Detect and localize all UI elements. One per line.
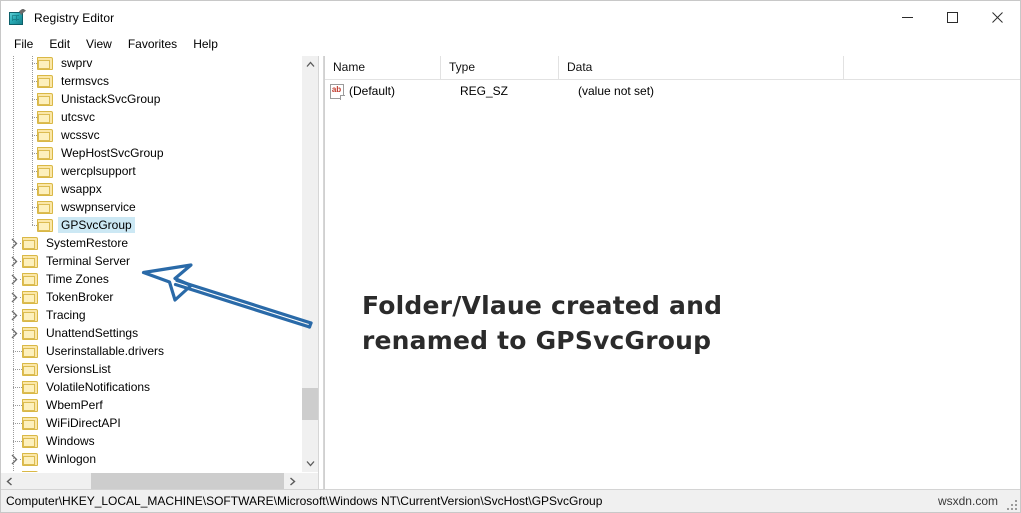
folder-icon xyxy=(22,255,38,268)
string-value-icon: ab xyxy=(330,84,344,99)
annotation-text: Folder/Vlaue created and renamed to GPSv… xyxy=(362,288,792,358)
window-title: Registry Editor xyxy=(34,11,114,25)
chevron-right-icon[interactable] xyxy=(6,271,22,287)
tree-item-label: Terminal Server xyxy=(43,253,133,269)
tree-item-wswpnservice[interactable]: wswpnservice xyxy=(1,198,301,216)
folder-icon xyxy=(37,57,53,70)
folder-icon xyxy=(37,111,53,124)
tree-item-wercplsupport[interactable]: wercplsupport xyxy=(1,162,301,180)
tree-item-volatilenotifications[interactable]: VolatileNotifications xyxy=(1,378,301,396)
title-bar: Registry Editor xyxy=(1,1,1020,34)
folder-icon xyxy=(37,147,53,160)
list-header: Name Type Data xyxy=(325,56,1020,80)
registry-values-pane: Name Type Data ab (Default) REG_SZ (valu… xyxy=(324,56,1020,489)
close-button[interactable] xyxy=(975,1,1020,34)
tree-item-userinstallable-drivers[interactable]: Userinstallable.drivers xyxy=(1,342,301,360)
tree-item-swprv[interactable]: swprv xyxy=(1,56,301,72)
folder-icon xyxy=(22,381,38,394)
column-header-filler xyxy=(844,56,1020,79)
tree-item-label: wsappx xyxy=(58,181,105,197)
value-data: (value not set) xyxy=(578,84,863,98)
folder-icon xyxy=(22,273,38,286)
tree-spacer xyxy=(21,91,37,107)
chevron-right-icon[interactable] xyxy=(6,235,22,251)
tree-item-label: wercplsupport xyxy=(58,163,139,179)
window-controls xyxy=(885,1,1020,34)
tree-item-label: GPSvcGroup xyxy=(58,217,135,233)
tree-horizontal-scrollbar[interactable] xyxy=(1,472,318,489)
tree-item-time-zones[interactable]: Time Zones xyxy=(1,270,301,288)
tree-spacer xyxy=(21,217,37,233)
tree-spacer xyxy=(6,343,22,359)
tree-item-label: Userinstallable.drivers xyxy=(43,343,167,359)
tree-item-unattendsettings[interactable]: UnattendSettings xyxy=(1,324,301,342)
maximize-button[interactable] xyxy=(930,1,975,34)
registry-tree-pane: swprvtermsvcsUnistackSvcGrouputcsvcwcssv… xyxy=(1,56,318,489)
chevron-right-icon[interactable] xyxy=(6,451,22,467)
tree-item-label: wcssvc xyxy=(58,127,103,143)
status-bar: Computer\HKEY_LOCAL_MACHINE\SOFTWARE\Mic… xyxy=(1,489,1020,512)
folder-icon xyxy=(22,363,38,376)
tree-spacer xyxy=(21,73,37,89)
tree-item-label: wswpnservice xyxy=(58,199,139,215)
horizontal-scroll-thumb[interactable] xyxy=(91,473,286,489)
folder-icon xyxy=(22,345,38,358)
tree-item-gpsvcgroup[interactable]: GPSvcGroup xyxy=(1,216,301,234)
folder-icon xyxy=(22,435,38,448)
tree-item-wifidirectapi[interactable]: WiFiDirectAPI xyxy=(1,414,301,432)
tree-item-label: utcsvc xyxy=(58,109,98,125)
folder-icon xyxy=(37,165,53,178)
tree-item-label: Winlogon xyxy=(43,451,99,467)
chevron-right-icon[interactable] xyxy=(6,253,22,269)
folder-icon xyxy=(22,291,38,304)
tree-item-systemrestore[interactable]: SystemRestore xyxy=(1,234,301,252)
tree-item-wephostsvcgroup[interactable]: WepHostSvcGroup xyxy=(1,144,301,162)
watermark: wsxdn.com xyxy=(938,490,998,512)
tree-item-versionslist[interactable]: VersionsList xyxy=(1,360,301,378)
chevron-right-icon[interactable] xyxy=(6,289,22,305)
tree-item-label: Tracing xyxy=(43,307,89,323)
tree-item-label: swprv xyxy=(58,56,95,71)
menu-item-favorites[interactable]: Favorites xyxy=(120,35,185,55)
tree-item-tracing[interactable]: Tracing xyxy=(1,306,301,324)
tree-spacer xyxy=(6,397,22,413)
tree-item-windows[interactable]: Windows xyxy=(1,432,301,450)
tree-item-wcssvc[interactable]: wcssvc xyxy=(1,126,301,144)
chevron-right-icon[interactable] xyxy=(6,307,22,323)
scroll-left-button[interactable] xyxy=(1,473,18,489)
table-row[interactable]: ab (Default) REG_SZ (value not set) xyxy=(325,80,1020,102)
tree-spacer xyxy=(21,145,37,161)
tree-item-label: WiFiDirectAPI xyxy=(43,415,124,431)
registry-path: Computer\HKEY_LOCAL_MACHINE\SOFTWARE\Mic… xyxy=(1,494,602,508)
folder-icon xyxy=(37,183,53,196)
menu-item-view[interactable]: View xyxy=(78,35,120,55)
folder-icon xyxy=(22,327,38,340)
tree-item-terminal-server[interactable]: Terminal Server xyxy=(1,252,301,270)
scroll-up-button[interactable] xyxy=(302,56,318,73)
scroll-down-button[interactable] xyxy=(302,455,318,472)
tree-item-label: VolatileNotifications xyxy=(43,379,153,395)
tree-item-utcsvc[interactable]: utcsvc xyxy=(1,108,301,126)
folder-icon xyxy=(37,219,53,232)
chevron-right-icon[interactable] xyxy=(6,325,22,341)
tree-item-wbemperf[interactable]: WbemPerf xyxy=(1,396,301,414)
scroll-right-button[interactable] xyxy=(284,473,301,489)
folder-icon xyxy=(22,237,38,250)
tree-spacer xyxy=(6,433,22,449)
registry-editor-window: Registry Editor File Edit View Favorites… xyxy=(0,0,1021,513)
tree-item-wsappx[interactable]: wsappx xyxy=(1,180,301,198)
main-content: swprvtermsvcsUnistackSvcGrouputcsvcwcssv… xyxy=(1,56,1020,489)
scroll-thumb[interactable] xyxy=(302,388,318,420)
tree-item-winlogon[interactable]: Winlogon xyxy=(1,450,301,468)
minimize-button[interactable] xyxy=(885,1,930,34)
tree-spacer xyxy=(21,163,37,179)
tree-spacer xyxy=(21,56,37,71)
menu-item-file[interactable]: File xyxy=(6,35,41,55)
tree-item-label: termsvcs xyxy=(58,73,112,89)
tree-item-label: WbemPerf xyxy=(43,397,106,413)
folder-icon xyxy=(37,75,53,88)
tree-item-termsvcs[interactable]: termsvcs xyxy=(1,72,301,90)
column-header-data[interactable]: Data xyxy=(559,56,844,79)
tree-item-label: VersionsList xyxy=(43,361,114,377)
tree-item-label: Time Zones xyxy=(43,271,112,287)
menu-item-help[interactable]: Help xyxy=(185,35,226,55)
folder-icon xyxy=(22,399,38,412)
tree-item-label: WepHostSvcGroup xyxy=(58,145,167,161)
tree-spacer xyxy=(6,379,22,395)
folder-icon xyxy=(22,453,38,466)
menu-item-edit[interactable]: Edit xyxy=(41,35,78,55)
registry-editor-icon xyxy=(8,9,26,27)
tree-item-tokenbroker[interactable]: TokenBroker xyxy=(1,288,301,306)
tree-item-label: SystemRestore xyxy=(43,235,131,251)
resize-grip[interactable] xyxy=(1005,498,1017,510)
tree-spacer xyxy=(21,181,37,197)
tree-item-unistacksvcgroup[interactable]: UnistackSvcGroup xyxy=(1,90,301,108)
folder-icon xyxy=(37,201,53,214)
column-header-type[interactable]: Type xyxy=(441,56,559,79)
tree-item-label: UnistackSvcGroup xyxy=(58,91,163,107)
column-header-name[interactable]: Name xyxy=(325,56,441,79)
folder-icon xyxy=(22,309,38,322)
tree-spacer xyxy=(21,109,37,125)
tree-spacer xyxy=(21,199,37,215)
tree-item-label: Windows xyxy=(43,433,98,449)
registry-tree[interactable]: swprvtermsvcsUnistackSvcGrouputcsvcwcssv… xyxy=(1,56,301,472)
list-body[interactable]: ab (Default) REG_SZ (value not set) xyxy=(325,80,1020,489)
menu-bar: File Edit View Favorites Help xyxy=(1,34,1020,56)
value-type: REG_SZ xyxy=(460,84,578,98)
folder-icon xyxy=(37,93,53,106)
scrollbar-corner xyxy=(301,473,318,489)
folder-icon xyxy=(22,417,38,430)
value-name: (Default) xyxy=(349,84,460,98)
tree-item-label: UnattendSettings xyxy=(43,325,141,341)
tree-item-label: TokenBroker xyxy=(43,289,116,305)
tree-spacer xyxy=(21,127,37,143)
folder-icon xyxy=(37,129,53,142)
tree-spacer xyxy=(6,415,22,431)
tree-spacer xyxy=(6,361,22,377)
tree-vertical-scrollbar[interactable] xyxy=(301,56,318,472)
